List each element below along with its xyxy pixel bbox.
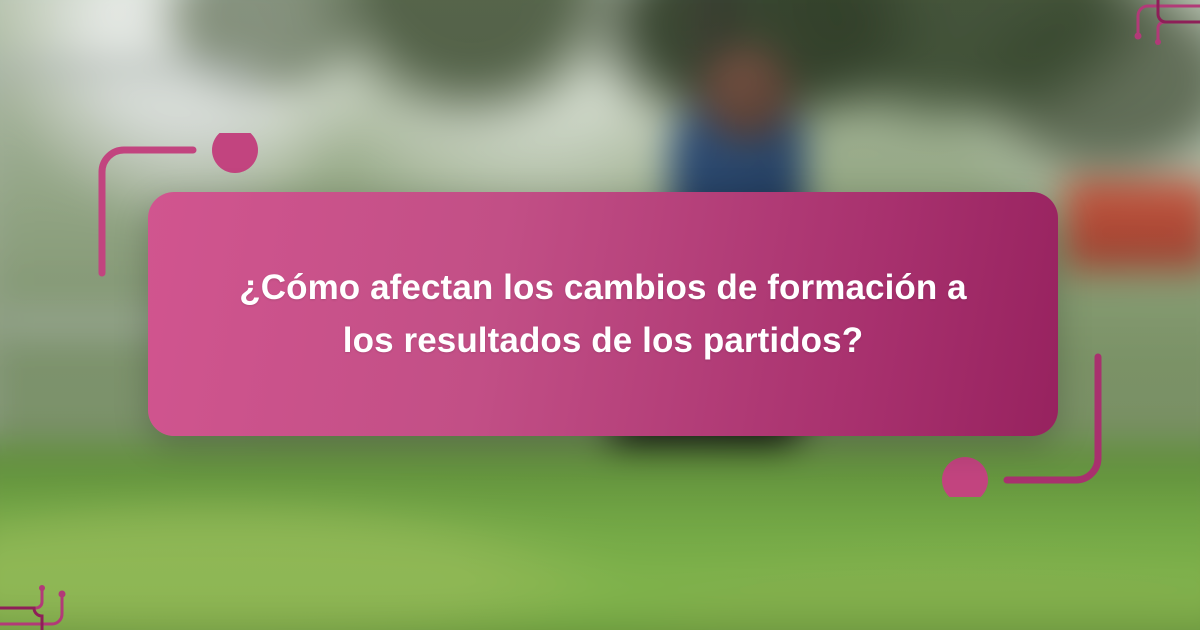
page-title: ¿Cómo afectan los cambios de formación a… xyxy=(223,261,983,367)
headline-card: ¿Cómo afectan los cambios de formación a… xyxy=(148,192,1058,436)
photo-grass-shadow xyxy=(0,599,1200,630)
photo-player-head xyxy=(702,45,792,140)
social-card-canvas: ¿Cómo afectan los cambios de formación a… xyxy=(0,0,1200,630)
photo-red-banner xyxy=(1064,180,1200,270)
